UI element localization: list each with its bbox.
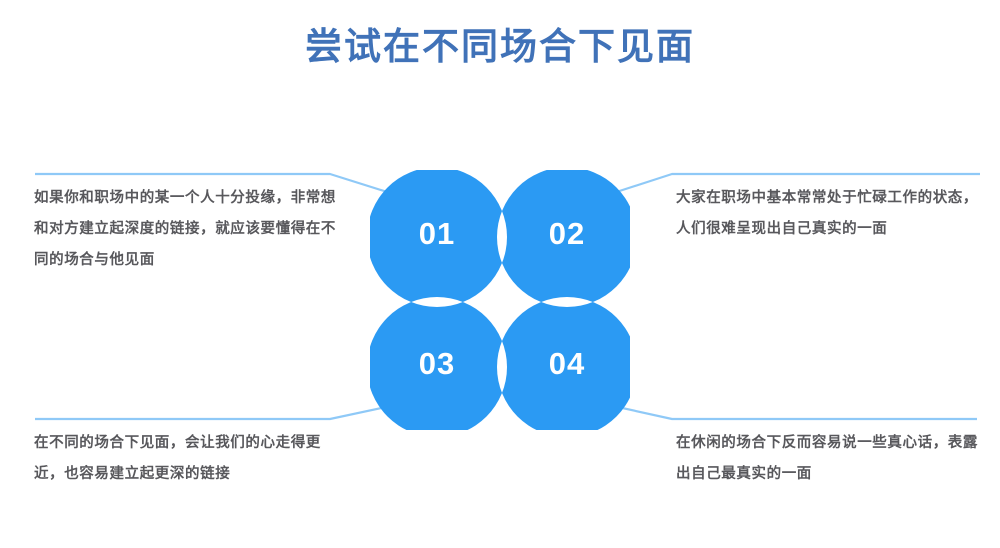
petal-number-02: 02 xyxy=(532,216,602,252)
description-text-04: 在休闲的场合下反而容易说一些真心话，表露出自己最真实的一面 xyxy=(676,428,986,490)
venn-circles-svg xyxy=(370,170,630,430)
petal-number-01: 01 xyxy=(402,216,472,252)
description-text-03: 在不同的场合下见面，会让我们的心走得更近，也容易建立起更深的链接 xyxy=(34,428,344,490)
page-title: 尝试在不同场合下见面 xyxy=(0,16,1000,70)
petal-number-04: 04 xyxy=(532,346,602,382)
venn-petals-fill xyxy=(370,170,630,430)
connector-line-04 xyxy=(604,404,977,419)
description-text-01: 如果你和职场中的某一个人十分投缘，非常想和对方建立起深度的链接，就应该要懂得在不… xyxy=(34,183,344,276)
venn-flower-diagram xyxy=(370,170,630,430)
petal-number-03: 03 xyxy=(402,346,472,382)
connector-line-03 xyxy=(35,404,400,419)
description-text-02: 大家在职场中基本常常处于忙碌工作的状态，人们很难呈现出自己真实的一面 xyxy=(676,183,986,245)
